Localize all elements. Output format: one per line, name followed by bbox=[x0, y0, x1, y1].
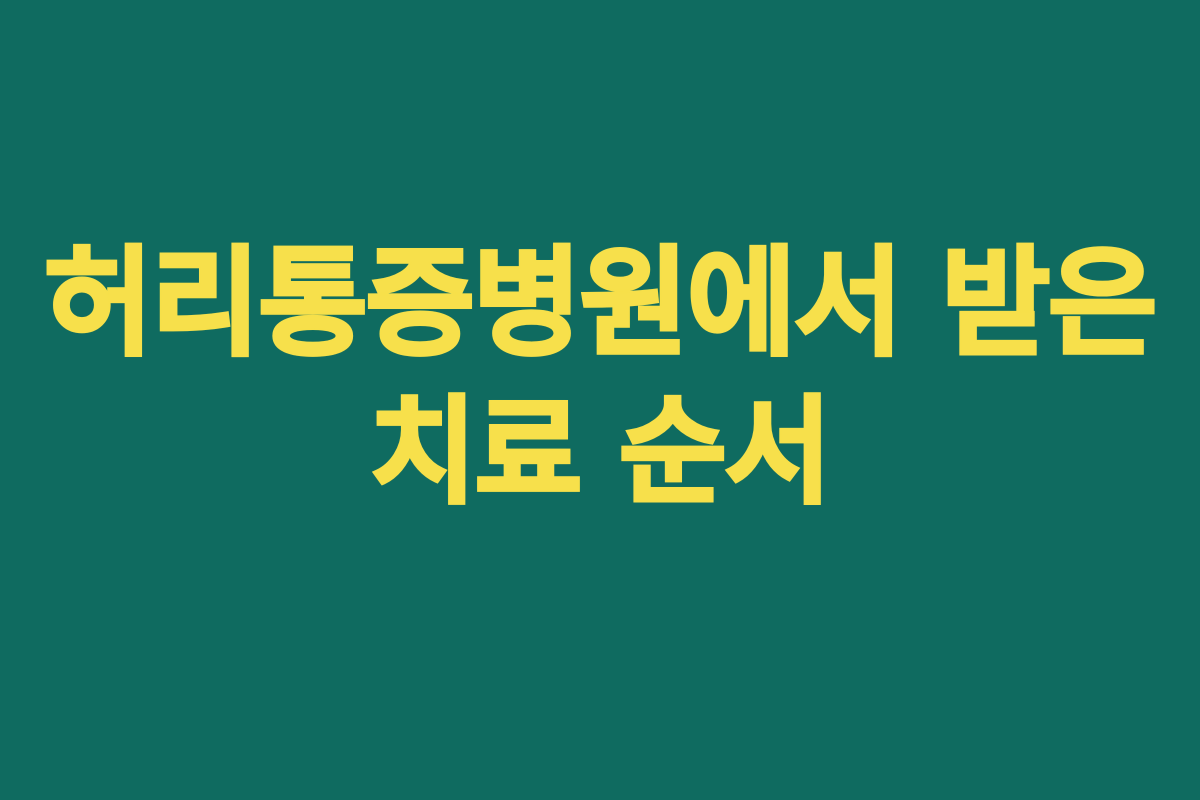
headline-line-1: 허리통증병원에서 받은 bbox=[44, 228, 1155, 379]
headline-block: 허리통증병원에서 받은 치료 순서 bbox=[0, 228, 1200, 528]
headline-line-2: 치료 순서 bbox=[370, 379, 830, 527]
title-card-banner: 허리통증병원에서 받은 치료 순서 bbox=[0, 0, 1200, 800]
